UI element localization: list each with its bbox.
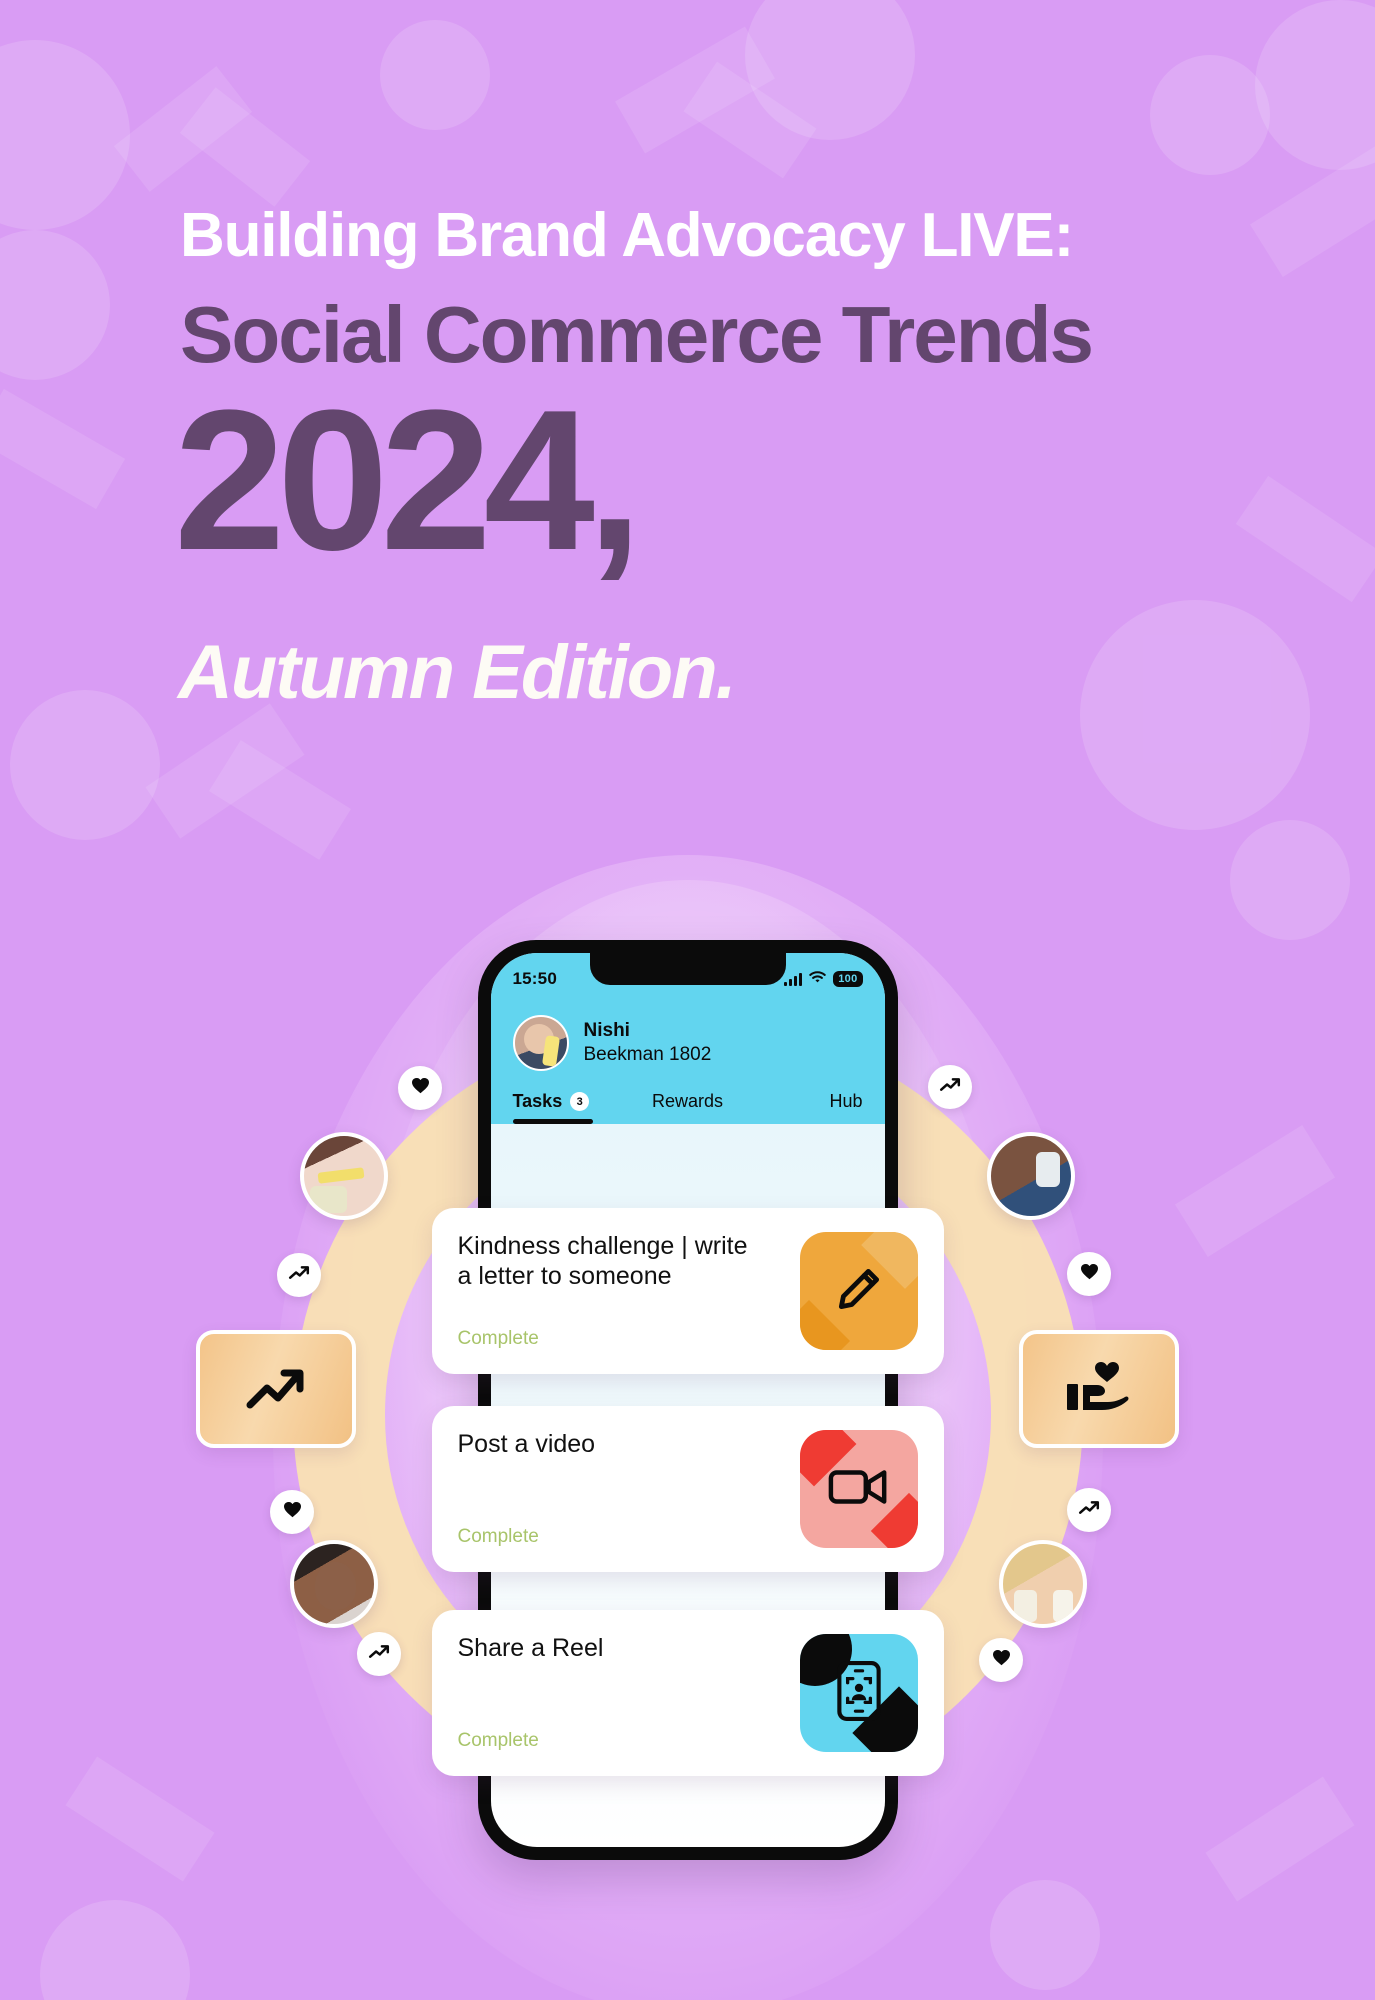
avatar <box>513 1015 569 1071</box>
pencil-icon <box>832 1262 886 1321</box>
task-status: Complete <box>458 1716 800 1752</box>
cellular-bars-icon <box>784 973 802 986</box>
headline-block: Building Brand Advocacy LIVE: Social Com… <box>0 0 1375 569</box>
trending-up-icon <box>368 1643 390 1665</box>
wifi-icon <box>809 969 826 989</box>
creator-avatar <box>987 1132 1075 1220</box>
trending-up-icon <box>245 1362 307 1417</box>
hand-holding-heart-icon <box>1063 1358 1135 1421</box>
poster-canvas: Building Brand Advocacy LIVE: Social Com… <box>0 0 1375 2000</box>
tab-tasks[interactable]: Tasks 3 <box>513 1091 630 1124</box>
creator-avatar <box>290 1540 378 1628</box>
decor-circle <box>10 690 160 840</box>
task-title: Kindness challenge | write a letter to s… <box>458 1232 758 1291</box>
decor-circle <box>1230 820 1350 940</box>
badge-heart <box>398 1066 442 1110</box>
decor-zigzag <box>65 1757 214 1882</box>
heart-icon <box>1080 1263 1099 1285</box>
tab-rewards[interactable]: Rewards <box>629 1091 746 1124</box>
task-title: Share a Reel <box>458 1634 758 1664</box>
headline-line-2: Social Commerce Trends <box>180 295 1375 375</box>
heart-icon <box>283 1501 302 1523</box>
headline-edition: Autumn Edition. <box>178 635 735 711</box>
decor-circle <box>40 1900 190 2000</box>
badge-trending <box>357 1632 401 1676</box>
trending-up-icon <box>939 1076 961 1098</box>
badge-heart <box>979 1638 1023 1682</box>
task-icon-tile <box>800 1232 918 1350</box>
headline-year: 2024, <box>174 393 1375 569</box>
profile-brand: Beekman 1802 <box>584 1043 712 1068</box>
decor-zigzag <box>1175 1125 1335 1257</box>
video-camera-icon <box>828 1465 890 1514</box>
status-time: 15:50 <box>513 969 557 989</box>
tab-hub[interactable]: Hub <box>746 1091 863 1124</box>
badge-trending <box>928 1065 972 1109</box>
task-card-text: Post a video Complete <box>458 1430 800 1548</box>
task-card[interactable]: Post a video Complete <box>432 1406 944 1572</box>
badge-trending <box>277 1253 321 1297</box>
task-card-text: Share a Reel Complete <box>458 1634 800 1752</box>
phone-notch <box>590 953 786 985</box>
decor-tile-hand-heart <box>1019 1330 1179 1448</box>
task-status: Complete <box>458 1314 800 1350</box>
tab-bar: Tasks 3 Rewards Hub <box>513 1091 863 1124</box>
mobile-reel-icon <box>836 1660 882 1727</box>
status-indicators: 100 <box>784 969 862 989</box>
badge-trending <box>1067 1488 1111 1532</box>
tab-tasks-label: Tasks <box>513 1091 563 1112</box>
task-title: Post a video <box>458 1430 758 1460</box>
badge-heart <box>1067 1252 1111 1296</box>
task-card-text: Kindness challenge | write a letter to s… <box>458 1232 800 1350</box>
heart-icon <box>992 1649 1011 1671</box>
tab-tasks-badge: 3 <box>570 1092 589 1111</box>
decor-zigzag <box>1205 1777 1354 1902</box>
headline-line-1: Building Brand Advocacy LIVE: <box>180 205 1375 267</box>
battery-icon: 100 <box>833 971 862 987</box>
trending-up-icon <box>288 1264 310 1286</box>
decor-circle <box>990 1880 1100 1990</box>
profile-name: Nishi <box>584 1019 712 1043</box>
decor-tile-trending <box>196 1330 356 1448</box>
task-card[interactable]: Kindness challenge | write a letter to s… <box>432 1208 944 1374</box>
badge-heart <box>270 1490 314 1534</box>
task-icon-tile <box>800 1430 918 1548</box>
trending-up-icon <box>1078 1499 1100 1521</box>
creator-avatar <box>300 1132 388 1220</box>
profile-row[interactable]: Nishi Beekman 1802 <box>513 991 863 1091</box>
decor-circle <box>1080 600 1310 830</box>
creator-avatar <box>999 1540 1087 1628</box>
task-icon-tile <box>800 1634 918 1752</box>
task-card[interactable]: Share a Reel Complete <box>432 1610 944 1776</box>
heart-icon <box>411 1077 430 1099</box>
task-status: Complete <box>458 1512 800 1548</box>
profile-text: Nishi Beekman 1802 <box>584 1019 712 1067</box>
